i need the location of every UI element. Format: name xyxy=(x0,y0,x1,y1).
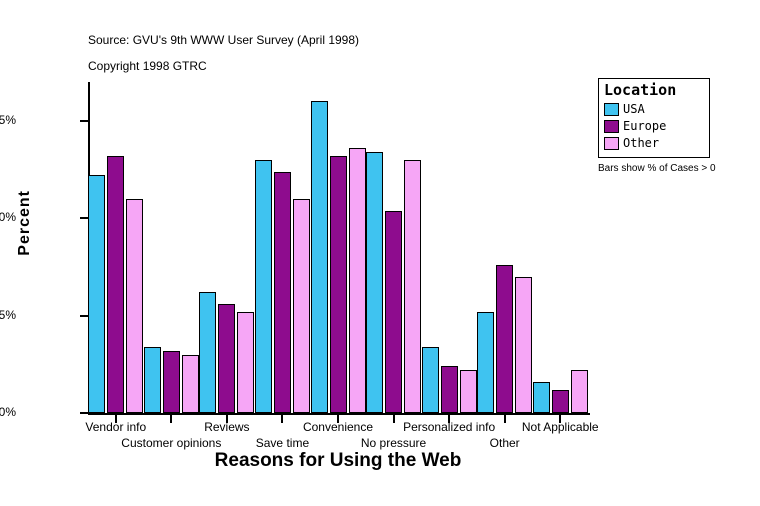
bar xyxy=(404,160,421,413)
x-axis-tick-label: Convenience xyxy=(303,420,373,434)
x-axis-tick-label: Customer opinions xyxy=(121,436,221,450)
bar xyxy=(126,199,143,413)
bar xyxy=(349,148,366,413)
y-axis-title: Percent xyxy=(16,190,46,256)
bar xyxy=(237,312,254,413)
x-axis-tick-label: Save time xyxy=(256,436,309,450)
bar xyxy=(477,312,494,413)
y-axis-tick-label: 0% xyxy=(0,405,16,419)
bar xyxy=(552,390,569,413)
bar xyxy=(385,211,402,413)
legend-swatch-icon xyxy=(604,137,619,150)
legend-entries: USAEuropeOther xyxy=(604,101,704,151)
legend-item-label: Other xyxy=(623,137,659,150)
legend-title: Location xyxy=(604,82,704,99)
bar xyxy=(311,101,328,413)
bar xyxy=(496,265,513,413)
legend-footnote: Bars show % of Cases > 0 xyxy=(598,163,716,174)
y-axis-tick xyxy=(80,120,88,122)
source-note: Source: GVU's 9th WWW User Survey (April… xyxy=(88,33,359,47)
x-axis-tick xyxy=(393,415,395,423)
y-axis-tick xyxy=(80,315,88,317)
bar xyxy=(274,172,291,413)
x-axis-tick xyxy=(170,415,172,423)
x-axis-title: Reasons for Using the Web xyxy=(88,450,588,472)
bar xyxy=(199,292,216,413)
bar xyxy=(441,366,458,413)
legend-item[interactable]: Other xyxy=(604,135,704,151)
legend-swatch-icon xyxy=(604,120,619,133)
copyright-note: Copyright 1998 GTRC xyxy=(88,59,207,73)
x-axis-tick-label: No pressure xyxy=(361,436,426,450)
legend-item-label: USA xyxy=(623,103,645,116)
bar xyxy=(571,370,588,413)
legend-item[interactable]: USA xyxy=(604,101,704,117)
bar xyxy=(218,304,235,413)
y-axis-tick-label: 50% xyxy=(0,210,16,224)
bar xyxy=(182,355,199,413)
x-axis-tick-label: Other xyxy=(490,436,520,450)
y-axis-tick xyxy=(80,412,88,414)
y-axis-tick-label: 75% xyxy=(0,113,16,127)
x-axis-tick-label: Personalized info xyxy=(403,420,495,434)
y-axis-tick-label: 25% xyxy=(0,308,16,322)
bar xyxy=(330,156,347,413)
legend: Location USAEuropeOther xyxy=(598,78,710,158)
bar xyxy=(144,347,161,413)
bar xyxy=(366,152,383,413)
x-axis-tick-label: Not Applicable xyxy=(522,420,599,434)
x-axis-tick xyxy=(281,415,283,423)
bar xyxy=(88,175,105,413)
x-axis-tick xyxy=(504,415,506,423)
y-axis-tick xyxy=(80,217,88,219)
bar xyxy=(107,156,124,413)
legend-item[interactable]: Europe xyxy=(604,118,704,134)
bar xyxy=(460,370,477,413)
x-axis-tick-label: Reviews xyxy=(204,420,249,434)
bar xyxy=(293,199,310,413)
legend-item-label: Europe xyxy=(623,120,666,133)
plot-area xyxy=(88,82,588,413)
x-axis-line xyxy=(88,413,590,415)
x-axis-tick-label: Vendor info xyxy=(85,420,146,434)
bar xyxy=(163,351,180,413)
bar xyxy=(515,277,532,413)
legend-swatch-icon xyxy=(604,103,619,116)
bar xyxy=(422,347,439,413)
bar xyxy=(255,160,272,413)
bar xyxy=(533,382,550,413)
bar-chart: Source: GVU's 9th WWW User Survey (April… xyxy=(0,0,760,506)
